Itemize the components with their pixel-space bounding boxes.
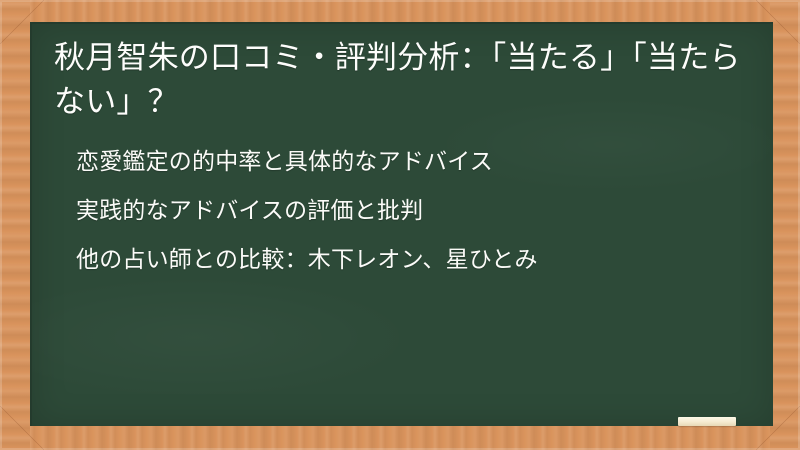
frame-stile-left — [0, 0, 30, 450]
list-item: 他の占い師との比較：木下レオン、星ひとみ — [54, 248, 751, 271]
chalk-stick-icon — [678, 417, 736, 426]
frame-stile-right — [770, 0, 800, 450]
topic-list: 恋愛鑑定の的中率と具体的なアドバイス 実践的なアドバイスの評価と批判 他の占い師… — [54, 150, 751, 271]
blackboard-content: 秋月智朱の口コミ・評判分析：「当たる」「当たらない」？ 恋愛鑑定の的中率と具体的… — [32, 24, 773, 271]
blackboard-surface: 秋月智朱の口コミ・評判分析：「当たる」「当たらない」？ 恋愛鑑定の的中率と具体的… — [30, 22, 773, 426]
page-title: 秋月智朱の口コミ・評判分析：「当たる」「当たらない」？ — [54, 36, 751, 124]
list-item: 恋愛鑑定の的中率と具体的なアドバイス — [54, 150, 751, 173]
chalkboard-frame: 秋月智朱の口コミ・評判分析：「当たる」「当たらない」？ 恋愛鑑定の的中率と具体的… — [0, 0, 800, 450]
list-item: 実践的なアドバイスの評価と批判 — [54, 199, 751, 222]
